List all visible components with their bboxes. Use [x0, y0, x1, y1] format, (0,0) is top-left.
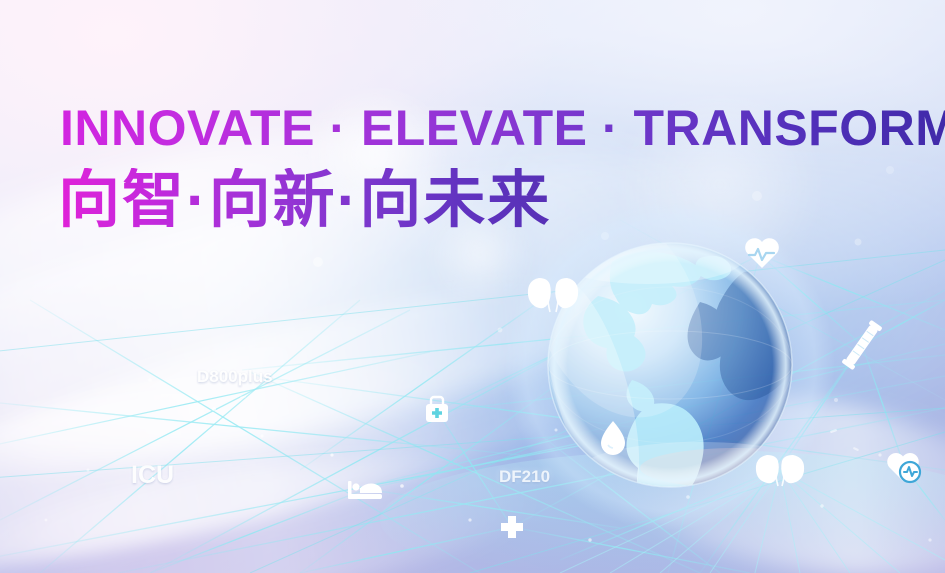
kidneys-icon — [756, 455, 804, 486]
medical-bag-icon — [426, 397, 448, 422]
heart-pulse-icon — [745, 238, 779, 268]
hospital-bed-icon — [348, 481, 382, 499]
light-streak — [589, 368, 945, 573]
light-streak — [0, 227, 709, 573]
product-tag-icu: ICU — [131, 461, 174, 490]
light-glow — [520, 160, 945, 460]
medical-cross-icon — [501, 516, 523, 538]
product-tag-df210: DF210 — [499, 467, 550, 487]
product-tag-d800plus: D800plus — [197, 367, 273, 387]
water-drop-icon — [601, 421, 625, 455]
banner-hero: INNOVATE · ELEVATE · TRANSFORM 向智·向新·向未来… — [0, 0, 945, 573]
light-streak — [0, 429, 546, 573]
light-streak — [0, 318, 507, 573]
page-title-en: INNOVATE · ELEVATE · TRANSFORM — [60, 103, 945, 153]
heart-monitor-icon — [887, 453, 920, 482]
page-title-cn: 向智·向新·向未来 — [58, 168, 551, 233]
dialyzer-cartridge-icon — [841, 320, 882, 371]
kidneys-icon — [528, 278, 578, 312]
